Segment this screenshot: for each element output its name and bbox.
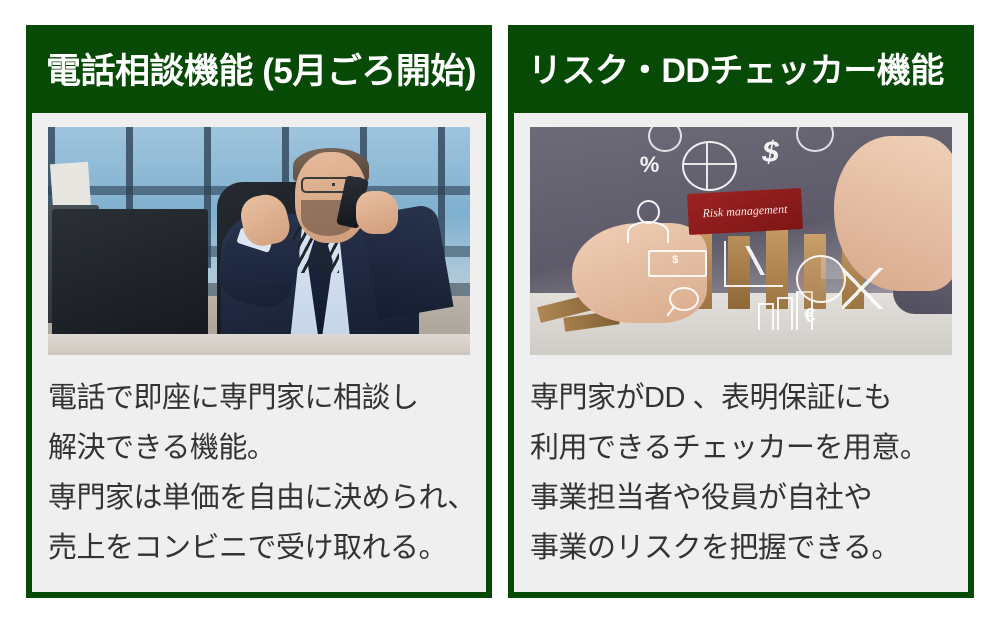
euro-icon: € (804, 305, 815, 328)
pie-chart-icon (796, 255, 847, 303)
card-body-risk-dd-checker: % $ € Risk management (514, 113, 968, 592)
caption-line: 利用できるチェッカーを用意。 (530, 423, 952, 473)
caption-line: 専門家がDD 、表明保証にも (530, 373, 952, 423)
card-caption: 専門家がDD 、表明保証にも 利用できるチェッカーを用意。 事業担当者や役員が自… (530, 373, 952, 573)
globe-icon (682, 141, 737, 191)
arrow-bar (758, 303, 774, 330)
risk-management-block: Risk management (687, 188, 803, 235)
user-icon (627, 200, 665, 241)
magnifier-icon (669, 287, 699, 317)
card-body-phone-consultation: 電話で即座に専門家に相談し 解決できる機能。 専門家は単価を自由に決められ、 売… (32, 113, 486, 592)
card-header-risk-dd-checker: リスク・DDチェッカー機能 (514, 31, 968, 113)
tools-icon (842, 268, 884, 309)
percent-icon: % (640, 152, 660, 178)
card-header-phone-consultation: 電話相談機能 (5月ごろ開始) (32, 31, 486, 113)
caption-line: 事業のリスクを把握できる。 (530, 523, 952, 573)
caption-line: 専門家は単価を自由に決められ、 (48, 473, 470, 523)
desk-surface (48, 334, 470, 355)
risk-management-label: Risk management (702, 202, 788, 221)
man-phone-hand (356, 191, 398, 234)
desk-monitor (52, 209, 208, 355)
caption-line: 事業担当者や役員が自社や (530, 473, 952, 523)
dollar-icon: $ (762, 136, 779, 170)
risk-management-photo: % $ € Risk management (530, 127, 952, 355)
feature-card-phone-consultation: 電話相談機能 (5月ごろ開始) (26, 25, 492, 598)
arrow-bar (777, 297, 793, 330)
slide-canvas: 電話相談機能 (5月ごろ開始) (0, 0, 1000, 631)
trend-line-icon (733, 246, 779, 276)
card-caption: 電話で即座に専門家に相談し 解決できる機能。 専門家は単価を自由に決められ、 売… (48, 373, 470, 573)
caption-line: 電話で即座に専門家に相談し (48, 373, 470, 423)
caption-line: 売上をコンビニで受け取れる。 (48, 523, 470, 573)
card-title: 電話相談機能 (5月ごろ開始) (46, 54, 476, 91)
caption-line: 解決できる機能。 (48, 423, 470, 473)
banknote-icon (648, 250, 707, 277)
card-title: リスク・DDチェッカー機能 (528, 54, 944, 90)
businessman-on-phone-photo (48, 127, 470, 355)
feature-card-risk-dd-checker: リスク・DDチェッカー機能 % $ (508, 25, 974, 598)
